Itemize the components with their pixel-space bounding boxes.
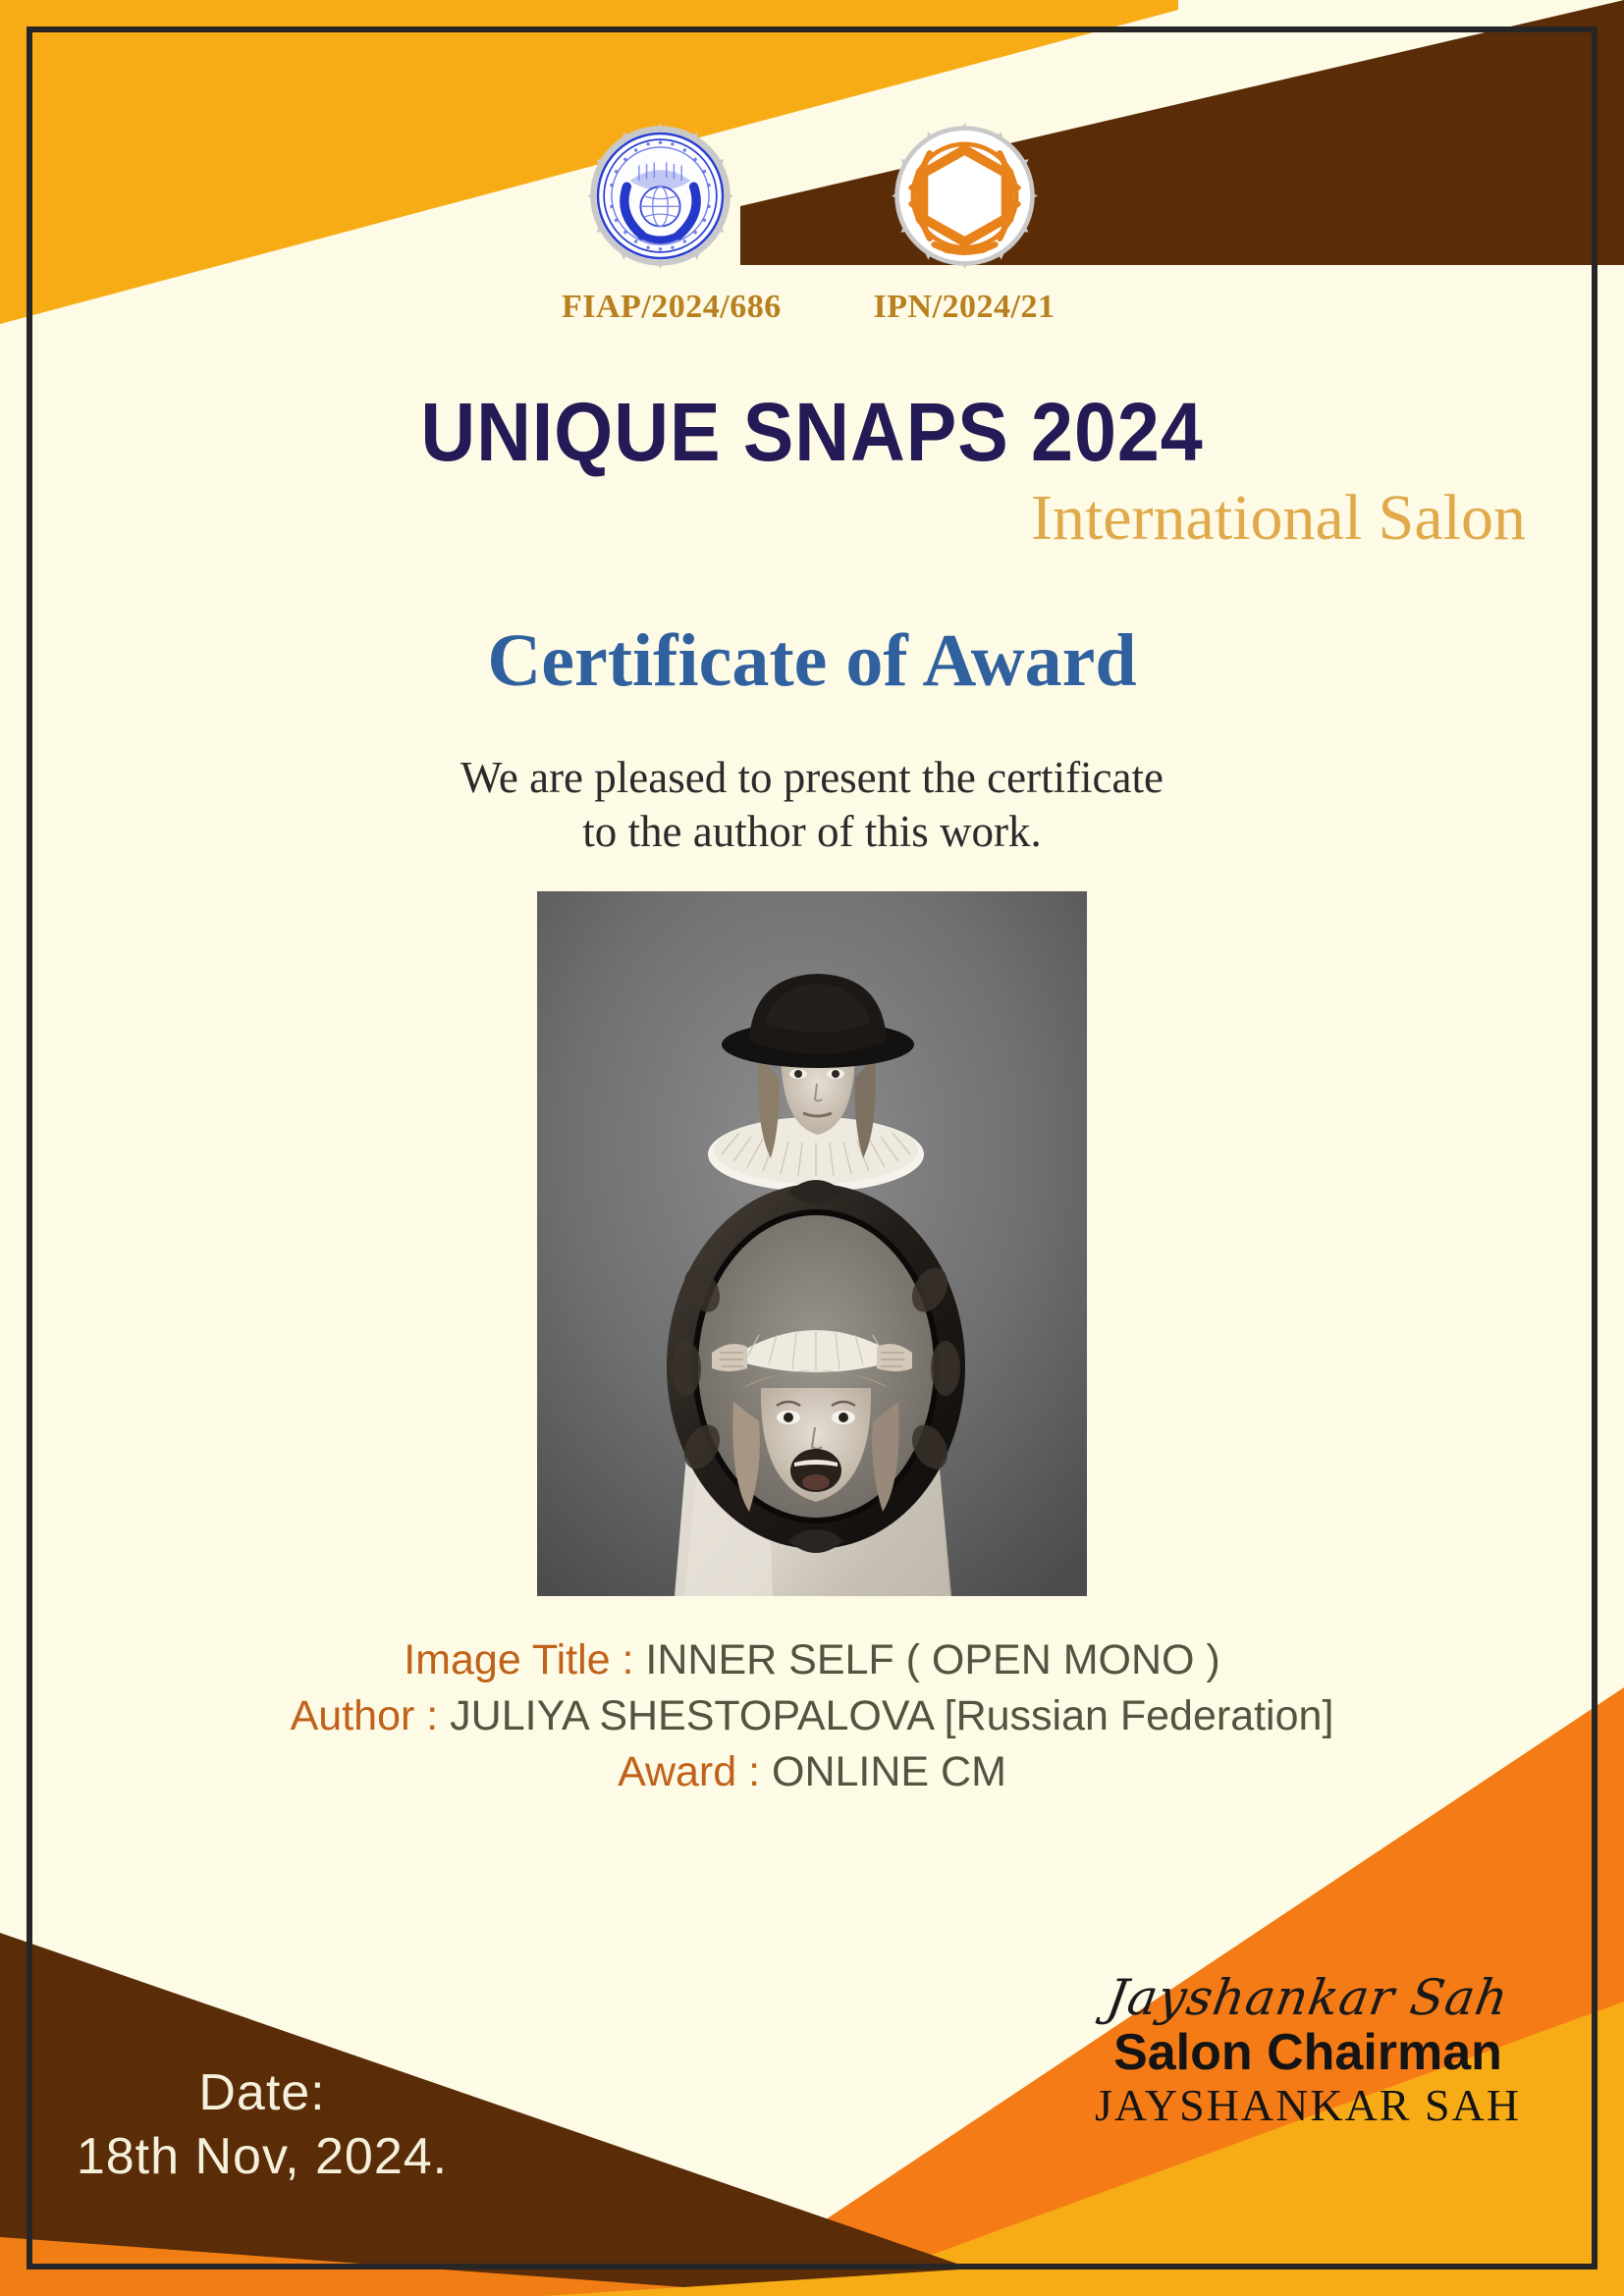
signature-script: Jayshankar Sah — [1039, 1973, 1577, 2022]
intro-line-2: to the author of this work. — [0, 805, 1624, 859]
author-label: Author : — [291, 1692, 439, 1739]
ipn-reference-number: IPN/2024/21 — [866, 289, 1062, 326]
fiap-reference-number: FIAP/2024/686 — [562, 289, 758, 326]
caption-award-line: Award : ONLINE CM — [0, 1744, 1624, 1800]
salon-title: UNIQUE SNAPS 2024 — [65, 385, 1559, 480]
caption-title-line: Image Title : INNER SELF ( OPEN MONO ) — [0, 1632, 1624, 1688]
image-title-label: Image Title : — [404, 1636, 633, 1683]
fiap-logo-block: FIAP/2024/686 — [562, 120, 758, 326]
award-label: Award : — [618, 1748, 760, 1795]
certificate-page: FIAP/2024/686 — [0, 0, 1624, 2296]
author-value: JULIYA SHESTOPALOVA [Russian Federation] — [450, 1692, 1333, 1739]
logo-row: FIAP/2024/686 — [0, 120, 1624, 326]
intro-line-1: We are pleased to present the certificat… — [0, 751, 1624, 805]
date-label: Date: — [51, 2061, 473, 2125]
signature-printed-name: JAYSHANKAR SAH — [1043, 2082, 1573, 2129]
caption-author-line: Author : JULIYA SHESTOPALOVA [Russian Fe… — [0, 1688, 1624, 1744]
salon-subtitle: International Salon — [0, 481, 1624, 556]
image-title-value: INNER SELF ( OPEN MONO ) — [645, 1636, 1219, 1683]
date-value: 18th Nov, 2024. — [51, 2125, 473, 2189]
certificate-intro: We are pleased to present the certificat… — [0, 751, 1624, 859]
image-caption: Image Title : INNER SELF ( OPEN MONO ) A… — [0, 1632, 1624, 1801]
fiap-seal-icon — [584, 259, 736, 276]
awarded-photograph — [537, 891, 1087, 1596]
signature-role: Salon Chairman — [1043, 2026, 1573, 2080]
ipn-logo-block: IPN/2024/21 — [866, 120, 1062, 326]
date-block: Date: 18th Nov, 2024. — [51, 2061, 473, 2189]
award-value: ONLINE CM — [772, 1748, 1006, 1795]
certificate-heading: Certificate of Award — [0, 618, 1624, 704]
ipn-aperture-icon — [889, 259, 1041, 276]
signature-block: Jayshankar Sah Salon Chairman JAYSHANKAR… — [1043, 1973, 1573, 2129]
